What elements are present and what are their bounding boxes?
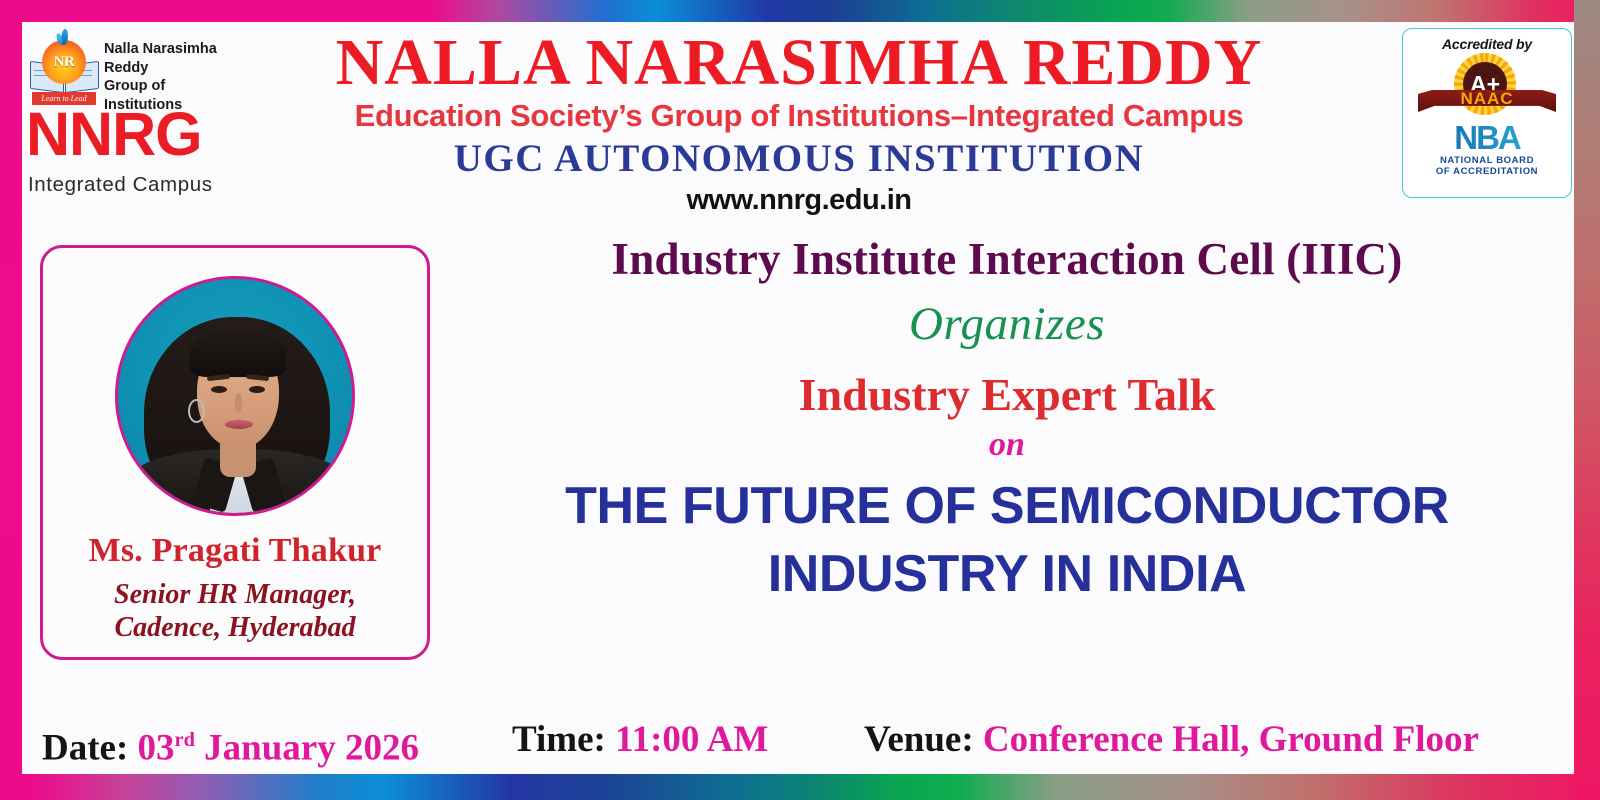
time-label: Time: <box>512 719 606 760</box>
speaker-card: Ms. Pragati Thakur Senior HR Manager, Ca… <box>40 245 430 660</box>
venue-label: Venue: <box>864 719 974 760</box>
border-left-gradient <box>0 0 22 800</box>
nnrg-emblem-icon: NR Learn to Lead <box>28 30 100 108</box>
naac-name: NAAC <box>1418 90 1556 107</box>
speaker-photo <box>115 276 355 516</box>
nnrg-logo: NR Learn to Lead Nalla Narasimha Reddy G… <box>26 28 226 206</box>
speaker-role-line1: Senior HR Manager, <box>43 578 427 611</box>
institution-name: NALLA NARASIMHA REDDY <box>224 24 1374 96</box>
date-month-year: January 2026 <box>204 727 419 768</box>
institution-website[interactable]: www.nnrg.edu.in <box>224 179 1374 215</box>
logo-society-line1: Nalla Narasimha Reddy <box>104 40 232 77</box>
event-details-bar: Date: 03rd January 2026 Time: 11:00 AM V… <box>24 716 1572 764</box>
on-label: on <box>452 427 1562 463</box>
speaker-role: Senior HR Manager, Cadence, Hyderabad <box>43 578 427 644</box>
event-topic-line1: THE FUTURE OF SEMICONDUCTOR <box>452 473 1562 541</box>
photo-lips <box>225 420 253 429</box>
event-topic: THE FUTURE OF SEMICONDUCTOR INDUSTRY IN … <box>452 473 1562 608</box>
event-content: Industry Institute Interaction Cell (III… <box>452 236 1562 608</box>
speaker-role-line2: Cadence, Hyderabad <box>43 611 427 644</box>
nba-subtitle-line1: NATIONAL BOARD <box>1412 155 1562 166</box>
photo-eye-left <box>211 386 227 393</box>
photo-hair-top <box>190 329 286 377</box>
photo-earring <box>188 399 205 423</box>
date-ordinal: rd <box>175 729 195 751</box>
naac-logo: A+ NAAC <box>1412 53 1562 119</box>
logo-campus-label: Integrated Campus <box>28 173 228 197</box>
event-date: Date: 03rd January 2026 <box>42 716 419 772</box>
date-day: 03 <box>138 727 175 768</box>
photo-nose <box>235 393 242 413</box>
venue-value: Conference Hall, Ground Floor <box>983 719 1479 760</box>
emblem-initials: NR <box>42 40 86 84</box>
event-topic-line2: INDUSTRY IN INDIA <box>452 541 1562 609</box>
border-top-gradient <box>0 0 1600 22</box>
organizer-cell: Industry Institute Interaction Cell (III… <box>452 236 1562 284</box>
border-bottom-gradient <box>0 774 1600 800</box>
border-right-gradient <box>1574 0 1600 800</box>
institution-title-block: NALLA NARASIMHA REDDY Education Society’… <box>224 24 1374 216</box>
photo-eye-right <box>249 386 265 393</box>
event-poster: NR Learn to Lead Nalla Narasimha Reddy G… <box>0 0 1600 800</box>
event-type: Industry Expert Talk <box>452 371 1562 419</box>
nba-logo: NBA NATIONAL BOARD OF ACCREDITATION <box>1412 121 1562 177</box>
event-time: Time: 11:00 AM <box>512 716 768 764</box>
nba-wordmark: NBA <box>1412 121 1562 154</box>
logo-acronym: NNRG <box>26 106 226 164</box>
date-label: Date: <box>42 727 128 768</box>
event-venue: Venue: Conference Hall, Ground Floor <box>864 716 1479 764</box>
nba-subtitle-line2: OF ACCREDITATION <box>1412 166 1562 177</box>
accreditation-heading: Accredited by <box>1403 29 1571 52</box>
speaker-name: Ms. Pragati Thakur <box>43 532 427 570</box>
time-value: 11:00 AM <box>615 719 768 760</box>
organizes-label: Organizes <box>452 300 1562 349</box>
poster-header: NR Learn to Lead Nalla Narasimha Reddy G… <box>24 24 1572 224</box>
institution-subtitle: Education Society’s Group of Institution… <box>224 96 1374 133</box>
accreditation-card: Accredited by A+ NAAC NBA NATIONAL BOARD… <box>1402 28 1572 198</box>
institution-status: UGC AUTONOMOUS INSTITUTION <box>224 133 1374 180</box>
